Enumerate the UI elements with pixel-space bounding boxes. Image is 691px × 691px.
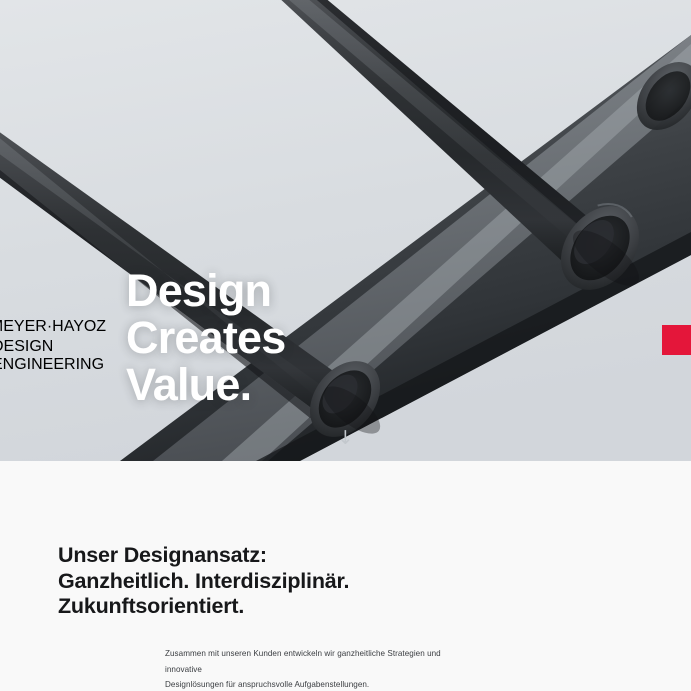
approach-heading-line-1: Unser Designansatz: xyxy=(58,543,349,569)
hero-headline: Design Creates Value. xyxy=(126,267,286,408)
scroll-down-arrow-icon[interactable]: ↓ xyxy=(0,429,691,448)
approach-heading-line-3: Zukunftsorientiert. xyxy=(58,594,349,620)
hero-section: MEYER·HAYOZ DESIGN ENGINEERING Design Cr… xyxy=(0,0,691,461)
hero-headline-line-2: Creates xyxy=(126,314,286,361)
logo-tagline: DESIGN ENGINEERING xyxy=(0,338,104,374)
approach-body-line-1: Zusammen mit unseren Kunden entwickeln w… xyxy=(165,646,475,677)
accent-square xyxy=(662,325,691,355)
approach-body-text: Zusammen mit unseren Kunden entwickeln w… xyxy=(165,646,475,691)
hero-headline-line-3: Value. xyxy=(126,361,286,408)
brand-logo[interactable]: MEYER·HAYOZ DESIGN ENGINEERING xyxy=(0,331,96,360)
approach-heading: Unser Designansatz: Ganzheitlich. Interd… xyxy=(58,543,349,620)
approach-heading-line-2: Ganzheitlich. Interdisziplinär. xyxy=(58,569,349,595)
logo-wordmark: MEYER·HAYOZ xyxy=(0,318,106,336)
hero-headline-line-1: Design xyxy=(126,267,286,314)
hero-product-image xyxy=(0,0,691,461)
page-root: MEYER·HAYOZ DESIGN ENGINEERING Design Cr… xyxy=(0,0,691,691)
approach-body-line-2: Designlösungen für anspruchsvolle Aufgab… xyxy=(165,677,475,691)
approach-section: Unser Designansatz: Ganzheitlich. Interd… xyxy=(0,461,691,691)
